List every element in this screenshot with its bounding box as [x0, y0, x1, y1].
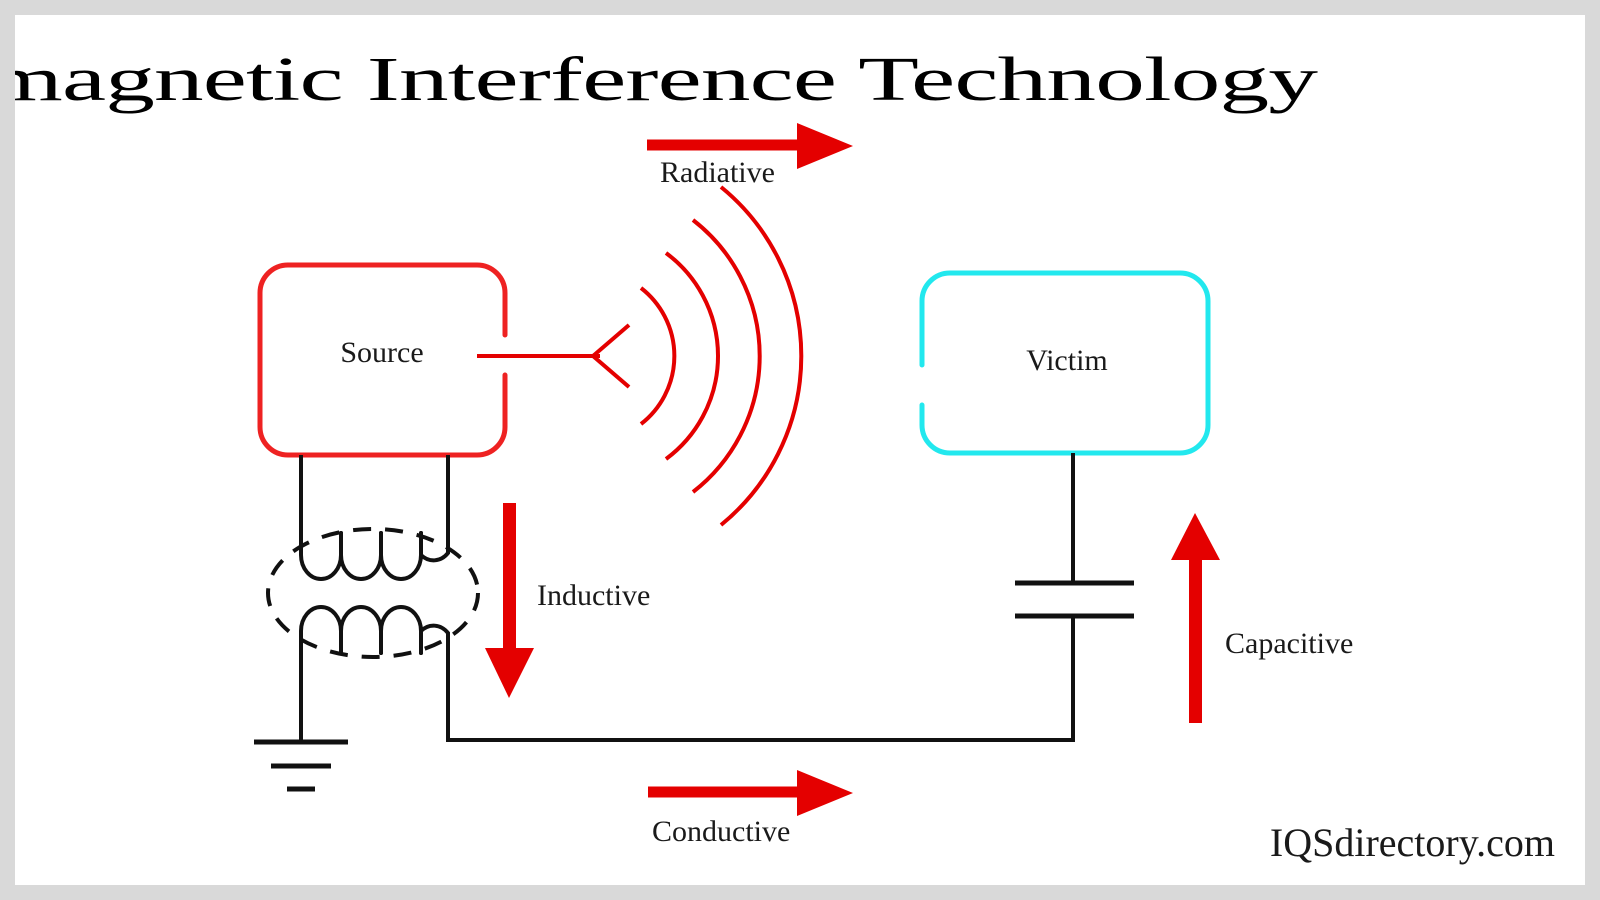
- victim-block[interactable]: Victim: [922, 273, 1208, 453]
- coil2-turn-3: [381, 607, 421, 653]
- page-frame: Electromagnetic Interference Technology …: [0, 0, 1600, 900]
- capacitive-arrow-head: [1171, 513, 1220, 560]
- capacitive-coupling-arrow: [1171, 513, 1220, 723]
- source-box-edge-top: [288, 265, 505, 335]
- radiation-arc-3: [693, 220, 760, 492]
- coil2-turn-1: [301, 607, 341, 653]
- victim-block-label: Victim: [1026, 344, 1108, 377]
- capacitive-arrow-shaft: [1189, 553, 1202, 723]
- inductive-arrow-head: [485, 648, 534, 698]
- source-wiring: [301, 455, 1073, 742]
- coil-turn-3: [381, 533, 421, 579]
- inductive-coupling-arrow: [485, 503, 534, 698]
- diagram-canvas: Electromagnetic Interference Technology …: [15, 15, 1585, 885]
- conductive-coupling-arrow: [648, 770, 853, 816]
- antenna-lower-arm: [593, 356, 629, 387]
- inductive-arrow-shaft: [503, 503, 516, 655]
- capacitive-label: Capacitive: [1225, 627, 1353, 660]
- radiation-arcs: [641, 187, 801, 525]
- antenna-symbol: [477, 325, 629, 387]
- source-block[interactable]: Source: [260, 265, 505, 455]
- page-title: Electromagnetic Interference Technology: [15, 45, 1319, 114]
- coil2-turn-2: [341, 607, 381, 653]
- coil-turn-1: [301, 531, 341, 579]
- coil-turn-2: [341, 533, 381, 579]
- radiative-arrow-head: [797, 123, 853, 169]
- inductor-secondary-coil: [301, 607, 448, 653]
- emi-diagram: Electromagnetic Interference Technology …: [15, 15, 1585, 885]
- ground-symbol: [254, 742, 348, 789]
- conductive-arrow-head: [797, 770, 853, 816]
- capacitor-symbol: [1015, 583, 1134, 616]
- conductive-label: Conductive: [652, 815, 790, 848]
- radiative-label: Radiative: [660, 156, 775, 189]
- inductive-label: Inductive: [537, 579, 650, 612]
- antenna-upper-arm: [593, 325, 629, 356]
- radiation-arc-1: [641, 288, 674, 424]
- victim-box-edge-left: [922, 273, 950, 365]
- source-block-label: Source: [340, 336, 423, 369]
- watermark: IQSdirectory.com: [1270, 820, 1555, 865]
